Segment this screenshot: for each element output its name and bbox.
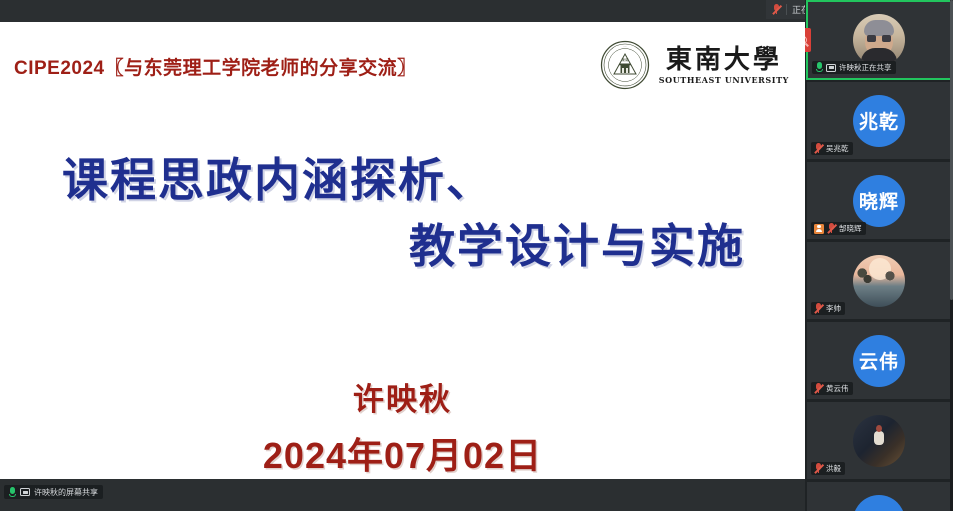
logo-chinese-name: 東南大學	[666, 47, 782, 73]
participant-tile[interactable]: 洪毅	[806, 401, 952, 480]
slide-title-line1: 课程思政内涵探析、	[0, 152, 805, 210]
participant-tile[interactable]: 云伟 黄云伟	[806, 321, 952, 400]
slide-title-block: 课程思政内涵探析、 教学设计与实施	[0, 152, 805, 275]
participant-tile[interactable]: 兆乾 吴兆乾	[806, 81, 952, 160]
participant-label: 洪毅	[811, 462, 845, 475]
host-icon	[814, 224, 824, 234]
slide-date: 2024年07月02日	[0, 427, 805, 479]
slide-title-line2: 教学设计与实施	[0, 218, 805, 276]
avatar: 苏飞	[853, 495, 905, 511]
participant-tile-active[interactable]: 许映秋正在共享	[806, 0, 952, 80]
participant-name: 李帅	[826, 303, 841, 314]
zoom-meeting-window: 正在讲话: 许映秋 ▲▲ CIPE2024〖与东莞理工学院老师的分享交流〗 東南	[0, 0, 953, 511]
participant-name: 吴兆乾	[826, 143, 849, 154]
shared-screen-slide[interactable]: CIPE2024〖与东莞理工学院老师的分享交流〗 東南 ····· ·····	[0, 22, 805, 479]
avatar: 晓辉	[853, 175, 905, 227]
participant-strip[interactable]: 许映秋正在共享 兆乾 吴兆乾 晓辉	[805, 0, 953, 511]
participant-label: 吴兆乾	[811, 142, 853, 155]
participant-label: 许映秋正在共享	[812, 61, 896, 74]
svg-text:·····: ·····	[623, 45, 627, 48]
screen-share-label: 许映秋的屏幕共享	[34, 487, 98, 498]
participant-tile[interactable]: 李帅	[806, 241, 952, 320]
screen-share-icon	[826, 64, 836, 72]
slide-presenter-name: 许映秋	[0, 374, 805, 419]
participant-name: 许映秋正在共享	[839, 62, 892, 73]
slide-header-text: CIPE2024〖与东莞理工学院老师的分享交流〗	[14, 53, 417, 80]
avatar: 云伟	[853, 335, 905, 387]
participant-name: 黄云伟	[826, 383, 849, 394]
mic-muted-icon	[814, 383, 823, 394]
participant-name: 洪毅	[826, 463, 841, 474]
participant-tile[interactable]: 晓辉 郜晓辉	[806, 161, 952, 240]
mic-unmuted-icon	[8, 487, 16, 498]
svg-text:·····: ·····	[623, 84, 627, 87]
mic-muted-icon	[772, 4, 781, 15]
avatar	[853, 14, 905, 66]
avatar	[853, 415, 905, 467]
divider	[786, 4, 787, 15]
participant-label: 李帅	[811, 302, 845, 315]
university-logo: 東南 ····· ····· 東南大學 SOUTHEAST UNIVERSITY	[600, 40, 789, 90]
participant-tile[interactable]: 苏飞	[806, 481, 952, 511]
participant-label: 黄云伟	[811, 382, 853, 395]
participant-label: 郜晓辉	[811, 222, 866, 235]
mic-muted-icon	[814, 303, 823, 314]
logo-english-name: SOUTHEAST UNIVERSITY	[659, 76, 789, 84]
mic-unmuted-icon	[815, 62, 823, 73]
svg-text:東南: 東南	[621, 57, 629, 62]
mic-muted-icon	[814, 143, 823, 154]
top-dark-strip	[0, 0, 805, 22]
participant-name: 郜晓辉	[839, 223, 862, 234]
screen-share-icon	[20, 488, 30, 496]
search-badge-icon[interactable]	[805, 28, 811, 52]
mic-muted-icon	[827, 223, 836, 234]
mic-muted-icon	[814, 463, 823, 474]
avatar	[853, 255, 905, 307]
university-seal-icon: 東南 ····· ·····	[600, 40, 650, 90]
bottom-toolbar: 许映秋的屏幕共享	[0, 479, 805, 511]
avatar: 兆乾	[853, 95, 905, 147]
screen-share-status-pill: 许映秋的屏幕共享	[4, 485, 103, 499]
